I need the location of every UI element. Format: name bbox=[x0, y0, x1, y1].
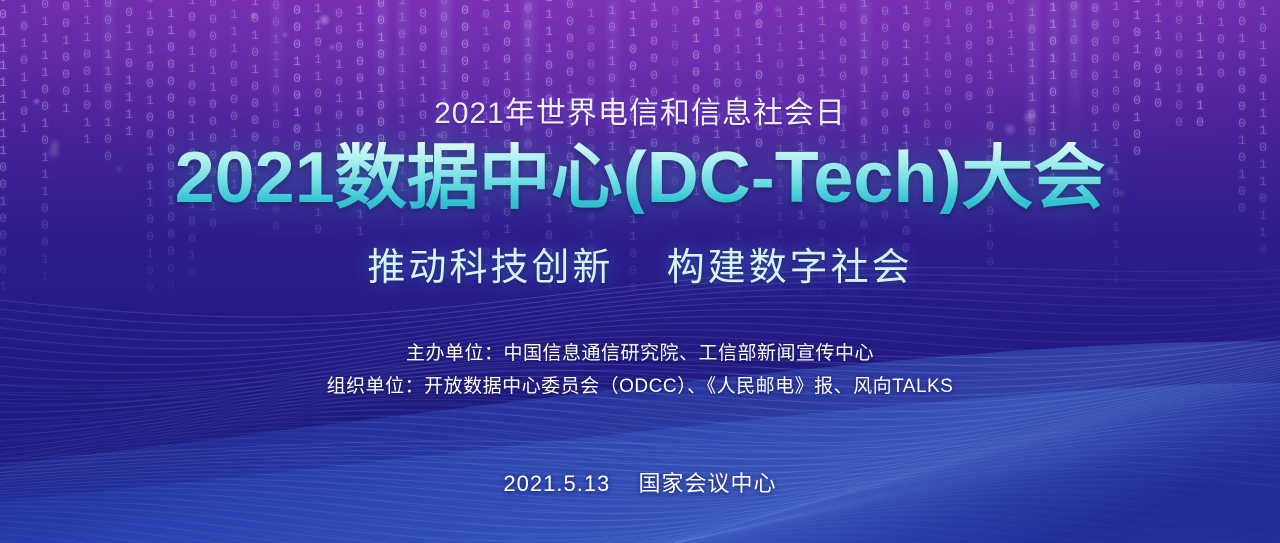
banner-subtitle: 推动科技创新 构建数字社会 bbox=[367, 236, 912, 291]
organizers-block: 主办单位：中国信息通信研究院、工信部新闻宣传中心 组织单位：开放数据中心委员会（… bbox=[327, 337, 954, 404]
event-day-eyebrow: 2021年世界电信和信息社会日 bbox=[434, 88, 846, 132]
event-date-venue: 2021.5.13 国家会议中心 bbox=[503, 466, 776, 498]
page-title: 2021数据中心(DC-Tech)大会 bbox=[175, 142, 1106, 214]
banner-content: 2021年世界电信和信息社会日 2021数据中心(DC-Tech)大会 推动科技… bbox=[0, 0, 1280, 543]
organizing-units-line: 组织单位：开放数据中心委员会（ODCC）、《人民邮电》报、风向TALKS bbox=[327, 370, 954, 403]
host-organizations-line: 主办单位：中国信息通信研究院、工信部新闻宣传中心 bbox=[327, 337, 954, 370]
subtitle-part-2: 构建数字社会 bbox=[667, 247, 913, 289]
conference-banner: 1 0 0 1 1 1 1 1 1 1 1 0 0 1 0 0 0 0 1 0 … bbox=[0, 0, 1280, 543]
event-venue: 国家会议中心 bbox=[639, 471, 777, 496]
event-date: 2021.5.13 bbox=[503, 471, 610, 496]
subtitle-part-1: 推动科技创新 bbox=[367, 247, 613, 289]
